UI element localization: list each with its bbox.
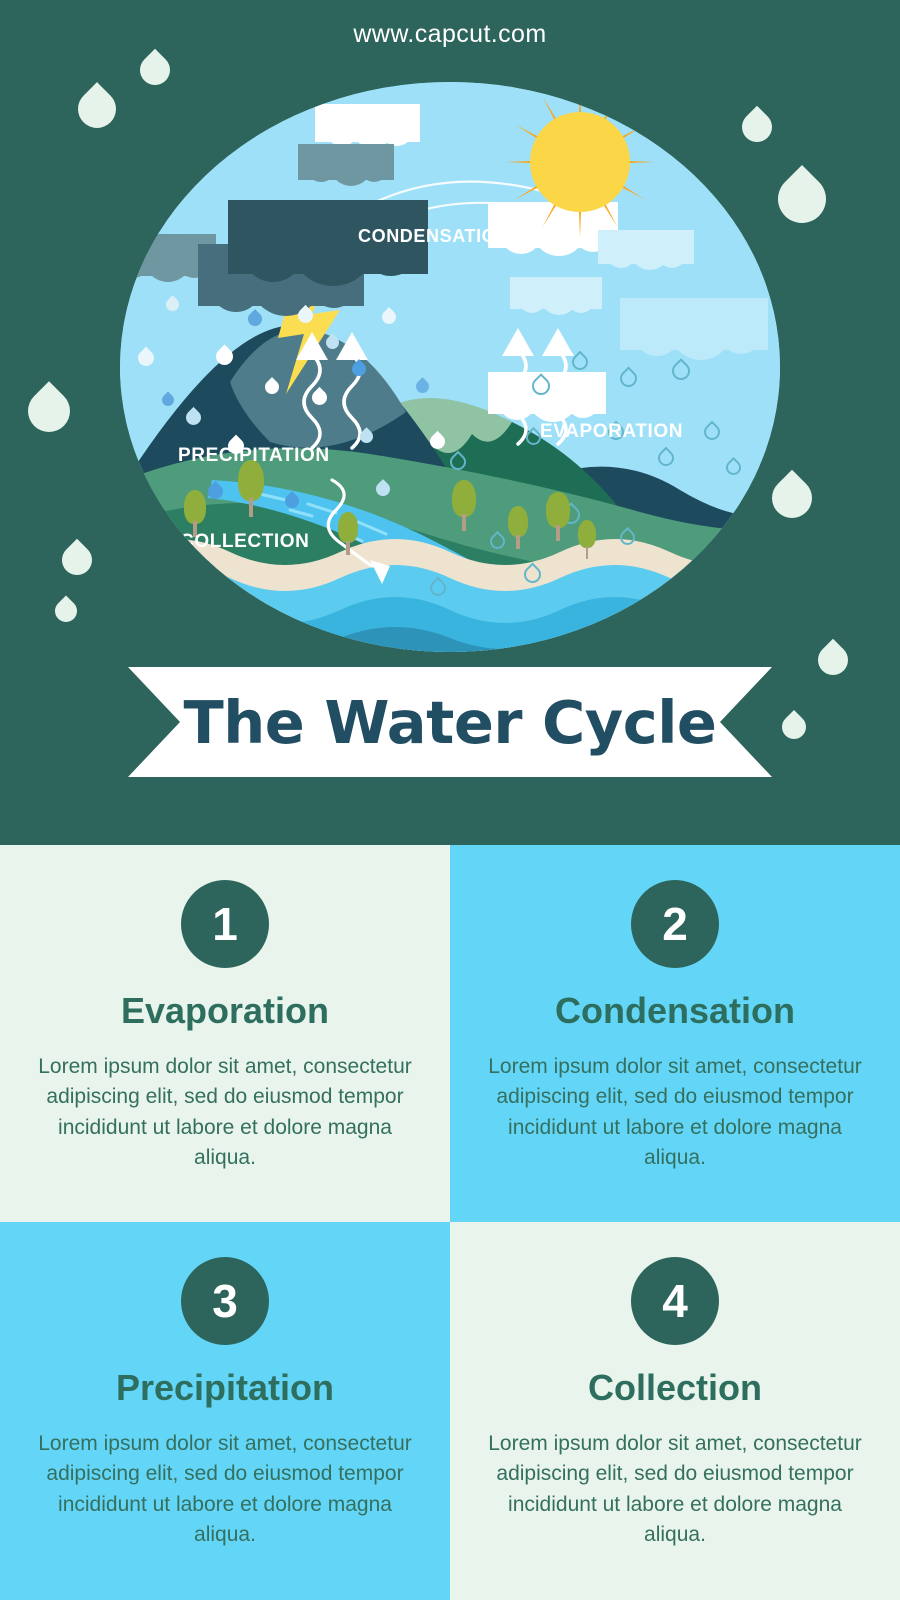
label-precipitation: PRECIPITATION [178, 445, 330, 467]
cloud-pale [620, 298, 768, 350]
step-card-4[interactable]: 4 Collection Lorem ipsum dolor sit amet,… [450, 1222, 900, 1600]
tree-icon [546, 492, 570, 540]
steps-grid: 1 Evaporation Lorem ipsum dolor sit amet… [0, 845, 900, 1600]
background-droplet-icon [19, 381, 78, 440]
step-number-badge: 4 [631, 1257, 719, 1345]
cloud-grey [298, 144, 394, 180]
site-url-text: www.capcut.com [0, 20, 900, 49]
background-droplet-icon [70, 82, 124, 136]
step-number-badge: 1 [181, 880, 269, 968]
step-description: Lorem ipsum dolor sit amet, consectetur … [476, 1429, 874, 1551]
cloud-white [315, 104, 420, 142]
step-number: 1 [212, 901, 238, 947]
tree-icon [452, 480, 476, 530]
background-droplet-icon [50, 595, 81, 626]
step-title: Precipitation [116, 1367, 334, 1409]
step-description: Lorem ipsum dolor sit amet, consectetur … [26, 1052, 424, 1174]
step-number-badge: 3 [181, 1257, 269, 1345]
step-description: Lorem ipsum dolor sit amet, consectetur … [476, 1052, 874, 1174]
background-droplet-icon [812, 639, 854, 681]
step-title: Collection [588, 1367, 762, 1409]
step-title: Condensation [555, 990, 795, 1032]
step-description: Lorem ipsum dolor sit amet, consectetur … [26, 1429, 424, 1551]
step-number-badge: 2 [631, 880, 719, 968]
step-number: 3 [212, 1278, 238, 1324]
step-number: 4 [662, 1278, 688, 1324]
step-title: Evaporation [121, 990, 329, 1032]
cloud-pale [510, 277, 602, 309]
step-number: 2 [662, 901, 688, 947]
water-cycle-illustration: CONDENSATION PRECIPITATION EVAPORATION C… [120, 82, 780, 652]
sun-icon [505, 87, 655, 237]
tree-icon [578, 520, 596, 558]
tree-icon [184, 490, 206, 536]
step-card-3[interactable]: 3 Precipitation Lorem ipsum dolor sit am… [0, 1222, 450, 1600]
hero-section: www.capcut.com [0, 0, 900, 845]
tree-icon [238, 460, 264, 516]
label-condensation: CONDENSATION [358, 226, 510, 247]
label-collection: COLLECTION [180, 531, 310, 553]
background-droplet-icon [56, 539, 98, 581]
background-droplet-icon [777, 710, 811, 744]
label-evaporation: EVAPORATION [540, 421, 683, 443]
tree-icon [338, 512, 358, 554]
step-card-1[interactable]: 1 Evaporation Lorem ipsum dolor sit amet… [0, 845, 450, 1222]
infographic-page: www.capcut.com [0, 0, 900, 1600]
step-card-2[interactable]: 2 Condensation Lorem ipsum dolor sit ame… [450, 845, 900, 1222]
page-title: The Water Cycle [184, 688, 717, 757]
tree-icon [508, 506, 528, 548]
title-ribbon: The Water Cycle [128, 667, 772, 777]
